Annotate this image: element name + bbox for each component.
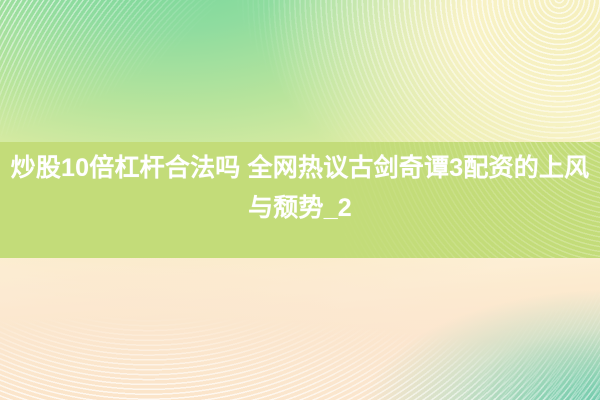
promo-banner: 炒股10倍杠杆合法吗 全网热议古剑奇谭3配资的上风与颓势_2 xyxy=(0,0,600,400)
banner-headline: 炒股10倍杠杆合法吗 全网热议古剑奇谭3配资的上风与颓势_2 xyxy=(0,148,600,228)
